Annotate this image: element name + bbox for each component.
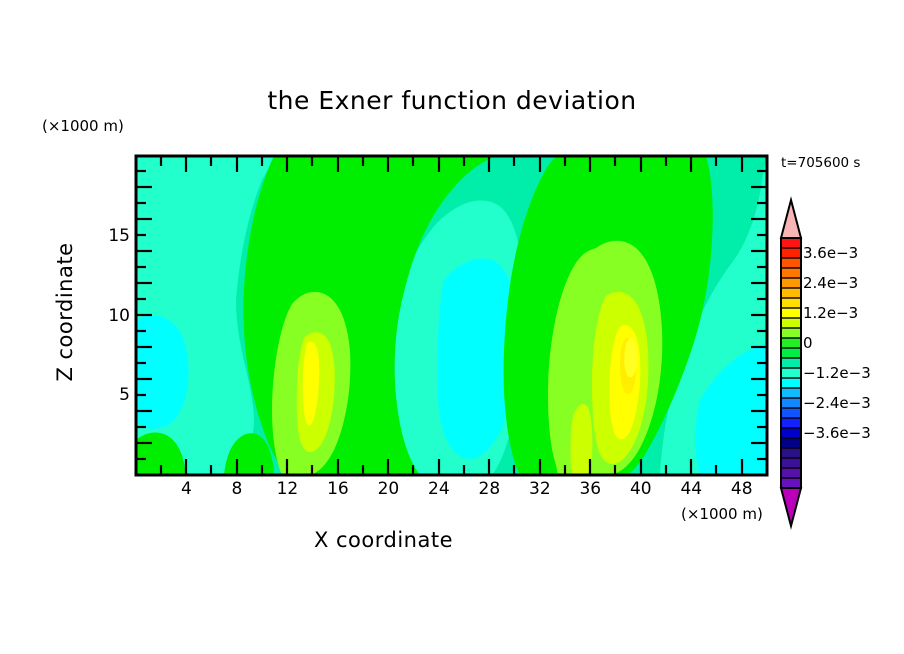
colorbar-band — [781, 408, 801, 418]
y-tick-label: 10 — [104, 306, 130, 326]
colorbar-band — [781, 348, 801, 358]
colorbar-band — [781, 418, 801, 428]
x-axis-title: X coordinate — [0, 528, 767, 552]
timestamp-annotation: t=705600 s — [781, 155, 860, 171]
colorbar-band — [781, 318, 801, 328]
colorbar-band — [781, 238, 801, 248]
colorbar-bands — [781, 238, 801, 488]
y-axis-title: Z coordinate — [53, 202, 77, 422]
colorbar-under-arrow — [781, 488, 801, 526]
colorbar-band — [781, 278, 801, 288]
colorbar-band — [781, 338, 801, 348]
y-axis-units: (×1000 m) — [42, 117, 124, 135]
page-title: the Exner function deviation — [0, 86, 904, 115]
x-tick-label: 24 — [428, 479, 450, 499]
x-tick-label: 20 — [378, 479, 400, 499]
colorbar-tick-label: 0 — [803, 334, 813, 352]
colorbar-band — [781, 378, 801, 388]
x-axis-units: (×1000 m) — [681, 505, 763, 523]
colorbar-tick-label: −2.4e−3 — [803, 394, 871, 412]
colorbar-band — [781, 398, 801, 408]
colorbar-tick-label: 1.2e−3 — [803, 304, 858, 322]
x-tick-label: 32 — [529, 479, 551, 499]
colorbar-tick-label: −1.2e−3 — [803, 364, 871, 382]
colorbar-tick-label: −3.6e−3 — [803, 424, 871, 442]
x-tick-label: 28 — [479, 479, 501, 499]
x-tick-label: 40 — [630, 479, 652, 499]
x-tick-label: 12 — [277, 479, 299, 499]
figure-canvas: the Exner function deviation (×1000 m) t… — [0, 0, 904, 654]
x-tick-label: 4 — [181, 479, 192, 499]
colorbar-band — [781, 428, 801, 438]
x-tick-label: 8 — [232, 479, 243, 499]
colorbar — [781, 200, 801, 526]
contour-field — [136, 156, 767, 475]
colorbar-band — [781, 458, 801, 468]
colorbar-band — [781, 298, 801, 308]
colorbar-over-arrow — [781, 200, 801, 238]
x-tick-label: 44 — [680, 479, 702, 499]
colorbar-tick-label: 3.6e−3 — [803, 244, 858, 262]
colorbar-band — [781, 288, 801, 298]
colorbar-band — [781, 388, 801, 398]
colorbar-band — [781, 478, 801, 488]
colorbar-band — [781, 468, 801, 478]
colorbar-band — [781, 268, 801, 278]
colorbar-band — [781, 448, 801, 458]
colorbar-band — [781, 248, 801, 258]
x-tick-label: 48 — [731, 479, 753, 499]
colorbar-band — [781, 438, 801, 448]
colorbar-band — [781, 358, 801, 368]
x-tick-label: 16 — [327, 479, 349, 499]
y-tick-label: 5 — [104, 385, 130, 405]
colorbar-band — [781, 368, 801, 378]
colorbar-band — [781, 258, 801, 268]
colorbar-tick-label: 2.4e−3 — [803, 274, 858, 292]
y-tick-label: 15 — [104, 226, 130, 246]
colorbar-band — [781, 308, 801, 318]
colorbar-band — [781, 328, 801, 338]
x-tick-label: 36 — [579, 479, 601, 499]
